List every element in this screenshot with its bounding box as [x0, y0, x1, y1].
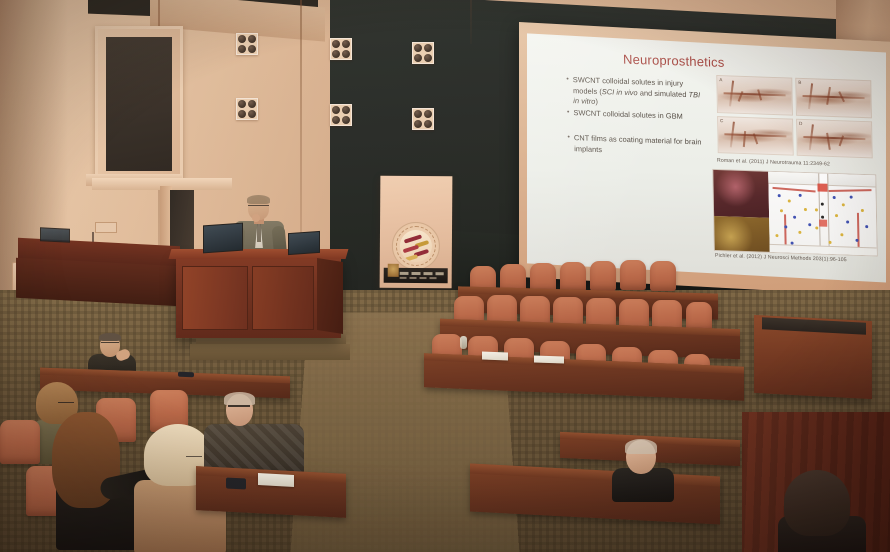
seat	[590, 261, 616, 291]
histology-panel-b: B	[795, 78, 872, 118]
wall-vent-icon	[412, 108, 434, 130]
desk-phone	[178, 372, 194, 378]
micrograph-red	[713, 170, 769, 218]
presentation-slide: Neuroprosthetics • SWCNT colloidal solut…	[527, 33, 886, 282]
water-bottle	[460, 336, 467, 349]
desk-papers	[258, 473, 294, 487]
bullet-dot-icon: •	[567, 133, 570, 154]
banner-seal-icon	[388, 264, 399, 277]
banner-footer-bar	[384, 268, 448, 283]
panel-label: A	[719, 77, 722, 82]
podium-side-counter-face	[16, 258, 180, 307]
histology-figure: A B C D	[716, 75, 872, 158]
cortical-schematic	[768, 172, 876, 256]
panel-label: C	[720, 118, 723, 123]
presenter-hand	[252, 214, 260, 222]
podium	[176, 256, 341, 338]
desk-phone	[226, 477, 246, 489]
seat	[0, 420, 40, 464]
micrograph-gold	[714, 216, 770, 252]
wall-vent-icon	[236, 33, 258, 55]
cell-markers	[768, 172, 876, 256]
list-item: • CNT films as coating material for brai…	[567, 133, 707, 159]
histology-panel-c: C	[717, 116, 794, 156]
attendee-hair	[784, 470, 850, 536]
slide-bullet-list: • SWCNT colloidal solutes in injury mode…	[566, 75, 708, 160]
stage-step	[190, 344, 350, 360]
wall-vent-icon	[330, 38, 352, 60]
banner-text-line	[400, 277, 438, 279]
desk-papers	[534, 355, 564, 363]
seat	[650, 261, 676, 291]
list-item: • SWCNT colloidal solutes in injury mode…	[566, 75, 707, 111]
podium-side	[317, 258, 343, 334]
glasses-icon	[248, 205, 269, 210]
fluorescence-micrographs	[713, 170, 770, 252]
wall-vent-icon	[412, 42, 434, 64]
figure-citation: Roman et al. (2011) J Neurotrauma 11:234…	[717, 158, 830, 168]
presenter-hair	[247, 195, 270, 204]
podium-surface	[169, 249, 349, 259]
projection-screen: Neuroprosthetics • SWCNT colloidal solut…	[519, 22, 890, 297]
emblem-inner	[400, 230, 432, 262]
attendee-hair	[625, 439, 657, 454]
bullet-text: SWCNT colloidal solutes in injury models…	[573, 75, 707, 111]
wall-panel-frame	[95, 26, 183, 182]
seat	[620, 260, 646, 290]
glasses-icon	[101, 342, 119, 346]
panel-label: D	[799, 120, 802, 125]
presenter-tie	[257, 224, 261, 242]
slide-title: Neuroprosthetics	[623, 52, 725, 70]
implant-schematic-figure	[712, 169, 878, 257]
panel-label: B	[798, 80, 801, 85]
attendee-front-right	[612, 440, 678, 500]
screen-surface: Neuroprosthetics • SWCNT colloidal solut…	[527, 33, 886, 282]
bullet-dot-icon: •	[567, 107, 570, 118]
histology-panel-d: D	[796, 118, 873, 158]
presenter-laptop[interactable]	[203, 223, 243, 254]
podium-monitor[interactable]	[288, 231, 320, 255]
lecture-hall-photo: Neuroprosthetics • SWCNT colloidal solut…	[0, 0, 890, 552]
institution-emblem-icon	[392, 222, 440, 270]
wall-vent-icon	[330, 104, 352, 126]
wall-panel-glass	[106, 37, 172, 171]
glasses-icon	[186, 456, 202, 460]
bullet-text: CNT films as coating material for brain …	[574, 133, 708, 159]
attendee-hair	[224, 392, 255, 405]
podium-panel	[182, 266, 248, 330]
desk-papers	[482, 352, 508, 361]
bullet-dot-icon: •	[566, 75, 569, 107]
wall-vent-icon	[236, 98, 258, 120]
side-monitor	[40, 227, 70, 243]
glasses-icon	[228, 405, 250, 410]
roll-up-banner	[380, 176, 453, 288]
seat	[560, 262, 586, 292]
histology-panel-a: A	[716, 75, 793, 115]
podium-panel	[252, 266, 314, 330]
banner-text-line	[400, 272, 444, 275]
wall-seam	[470, 0, 472, 44]
attendee-hair	[99, 333, 121, 341]
attendee-corner	[778, 470, 868, 552]
